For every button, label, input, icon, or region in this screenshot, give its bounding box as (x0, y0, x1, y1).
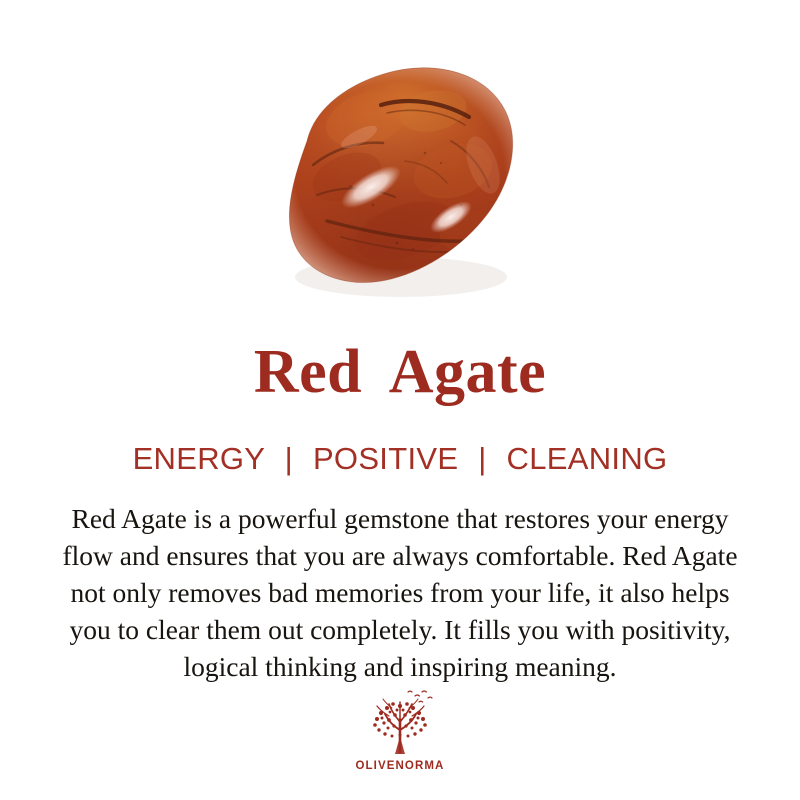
keyword-positive: POSITIVE (313, 441, 458, 476)
gemstone-image-area (0, 0, 800, 320)
product-info-card: Red Agate ENERGY | POSITIVE | CLEANING R… (0, 0, 800, 800)
brand-name: OLIVENORMA (0, 760, 800, 772)
keyword-cleaning: CLEANING (507, 441, 668, 476)
page-title: Red Agate (0, 336, 800, 408)
description-line: flow and ensures that you are always com… (22, 537, 778, 574)
tree-of-life-icon (359, 686, 441, 758)
description-line: you to clear them out completely. It fil… (22, 611, 778, 648)
brand-logo: OLIVENORMA (0, 686, 800, 786)
keyword-separator: | (274, 440, 304, 478)
product-description: Red Agate is a powerful gemstone that re… (22, 500, 778, 685)
birds-icon (408, 691, 432, 702)
description-line: not only removes bad memories from your … (22, 574, 778, 611)
tree-trunk (395, 738, 405, 754)
description-line: Red Agate is a powerful gemstone that re… (22, 500, 778, 537)
description-line: logical thinking and inspiring meaning. (22, 648, 778, 685)
stone-body-group (255, 45, 545, 305)
red-agate-stone-image (255, 45, 545, 305)
keyword-separator: | (467, 440, 497, 478)
keyword-energy: ENERGY (133, 441, 265, 476)
keyword-list: ENERGY | POSITIVE | CLEANING (0, 440, 800, 478)
